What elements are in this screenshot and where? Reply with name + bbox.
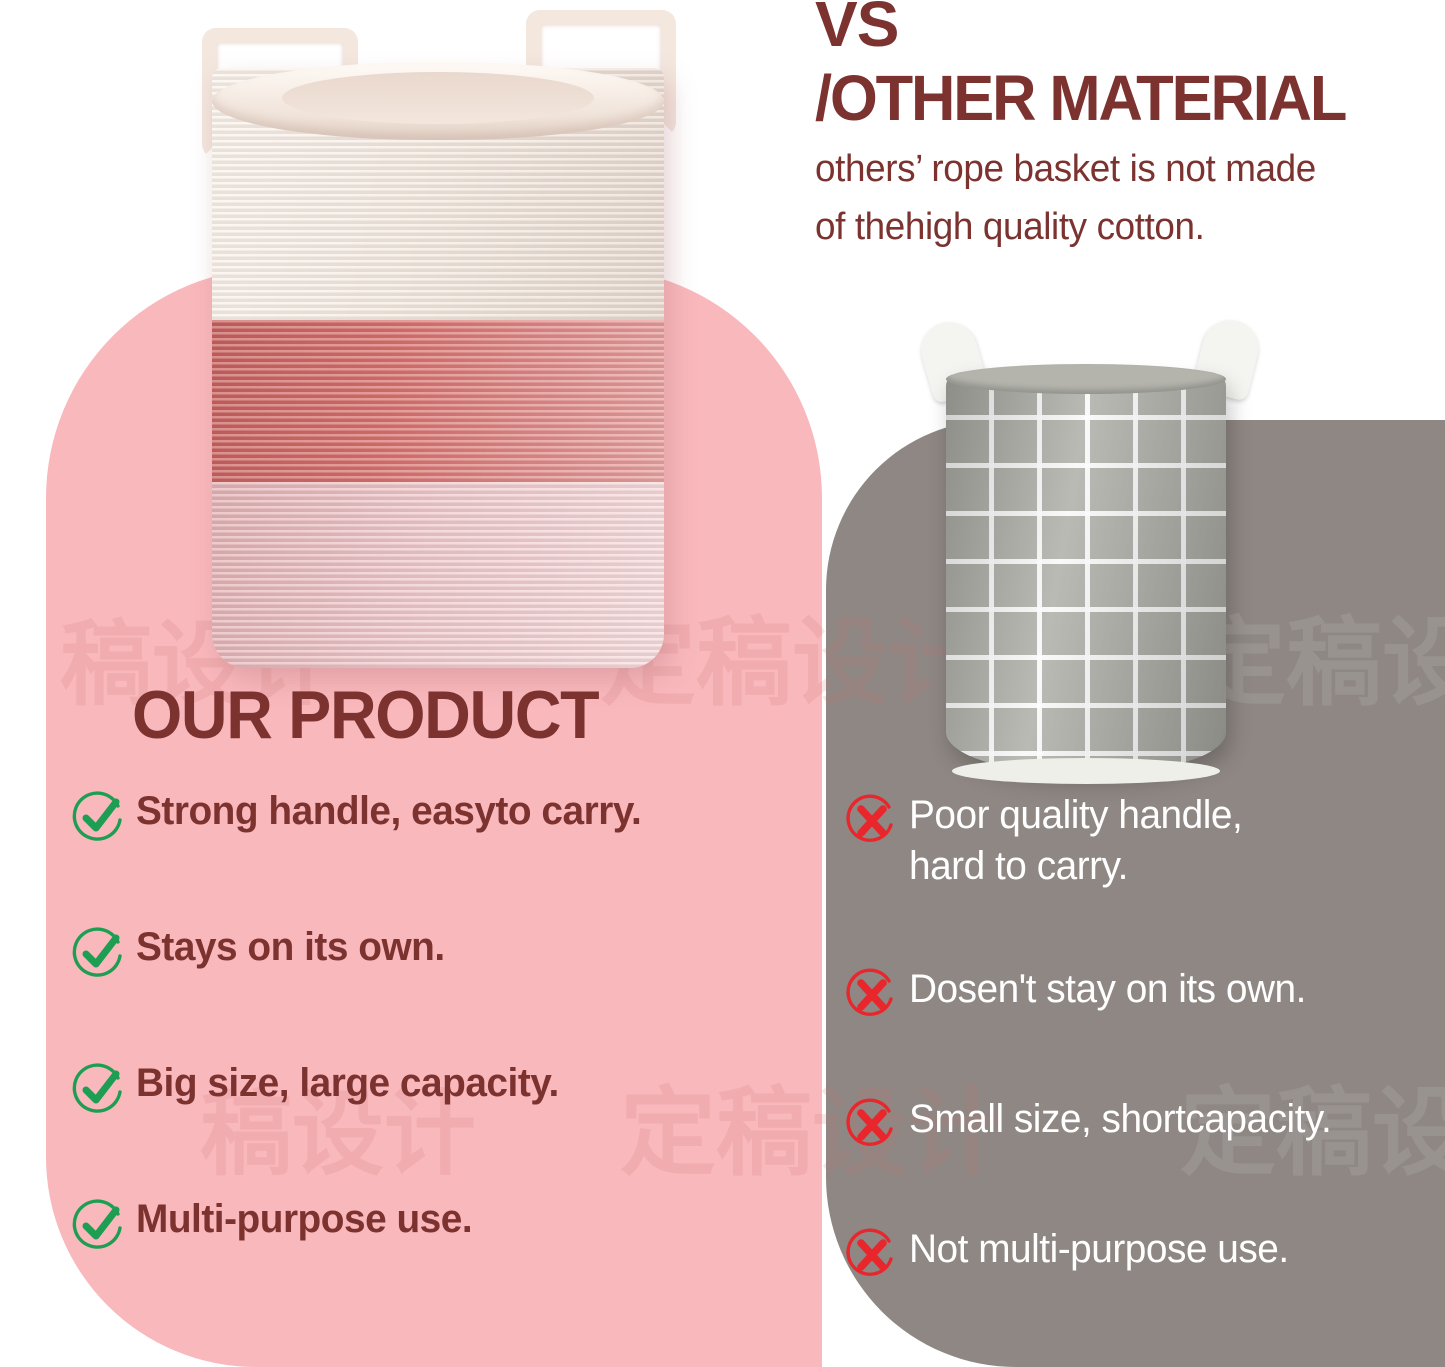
hamper-rim xyxy=(946,364,1226,394)
check-circle-icon xyxy=(72,926,126,980)
our-product-feature-item: Multi-purpose use. xyxy=(72,1194,812,1252)
competitor-drawback-label-2: hard to carry. xyxy=(909,841,1242,892)
other-material-subtitle-line1: others’ rope basket is not made xyxy=(815,142,1436,198)
competitor-drawback-item: Not multi-purpose use. xyxy=(845,1224,1425,1282)
competitor-drawback-label-group: Not multi-purpose use. xyxy=(909,1224,1300,1275)
basket-band-rose xyxy=(212,320,664,482)
check-circle-icon xyxy=(72,790,126,844)
competitor-drawback-item: Small size, shortcapacity. xyxy=(845,1094,1425,1152)
cross-circle-icon xyxy=(845,968,899,1022)
competitor-drawback-item: Poor quality handle,hard to carry. xyxy=(845,790,1425,892)
basket-opening xyxy=(282,72,594,124)
cross-circle-icon xyxy=(845,1228,899,1282)
competitor-drawback-label-group: Dosen't stay on its own. xyxy=(909,964,1318,1015)
comparison-infographic: 稿设计定稿设计定稿设稿设计定稿设计定稿设 VS /OTHER MATERIAL … xyxy=(0,0,1445,1367)
our-product-feature-list: Strong handle, easyto carry.Stays on its… xyxy=(72,786,812,1252)
competitor-drawback-label: Poor quality handle, xyxy=(909,790,1242,841)
other-material-subtitle-line2: of thehigh quality cotton. xyxy=(815,200,1436,256)
our-product-feature-label: Multi-purpose use. xyxy=(136,1194,472,1245)
our-product-feature-label: Big size, large capacity. xyxy=(136,1058,559,1109)
competitor-heading-block: VS /OTHER MATERIAL others’ rope basket i… xyxy=(815,0,1445,256)
competitor-drawback-label: Dosen't stay on its own. xyxy=(909,964,1306,1015)
check-circle-icon xyxy=(72,1062,126,1116)
our-product-feature-item: Big size, large capacity. xyxy=(72,1058,812,1116)
competitor-drawback-label-group: Poor quality handle,hard to carry. xyxy=(909,790,1253,892)
check-circle-icon xyxy=(72,1198,126,1252)
our-product-feature-label: Strong handle, easyto carry. xyxy=(136,786,641,837)
competitor-drawback-label: Not multi-purpose use. xyxy=(909,1224,1289,1275)
our-product-feature-label: Stays on its own. xyxy=(136,922,445,973)
our-product-feature-item: Stays on its own. xyxy=(72,922,812,980)
vs-label: VS xyxy=(815,0,1445,57)
competitor-drawback-label-group: Small size, shortcapacity. xyxy=(909,1094,1344,1145)
cross-circle-icon xyxy=(845,1098,899,1152)
competitor-drawback-item: Dosen't stay on its own. xyxy=(845,964,1425,1022)
our-product-feature-item: Strong handle, easyto carry. xyxy=(72,786,812,844)
hamper-base xyxy=(952,758,1220,784)
our-product-basket-image xyxy=(196,10,676,680)
cross-circle-icon xyxy=(845,794,899,848)
competitor-hamper-image xyxy=(900,320,1270,780)
competitor-drawback-list: Poor quality handle,hard to carry.Dosen'… xyxy=(845,790,1425,1282)
our-product-title: OUR PRODUCT xyxy=(132,676,598,754)
basket-body xyxy=(212,68,664,668)
basket-band-blush xyxy=(212,482,664,668)
competitor-drawback-label: Small size, shortcapacity. xyxy=(909,1094,1331,1145)
hamper-body xyxy=(946,372,1226,772)
other-material-title: /OTHER MATERIAL xyxy=(815,65,1429,132)
